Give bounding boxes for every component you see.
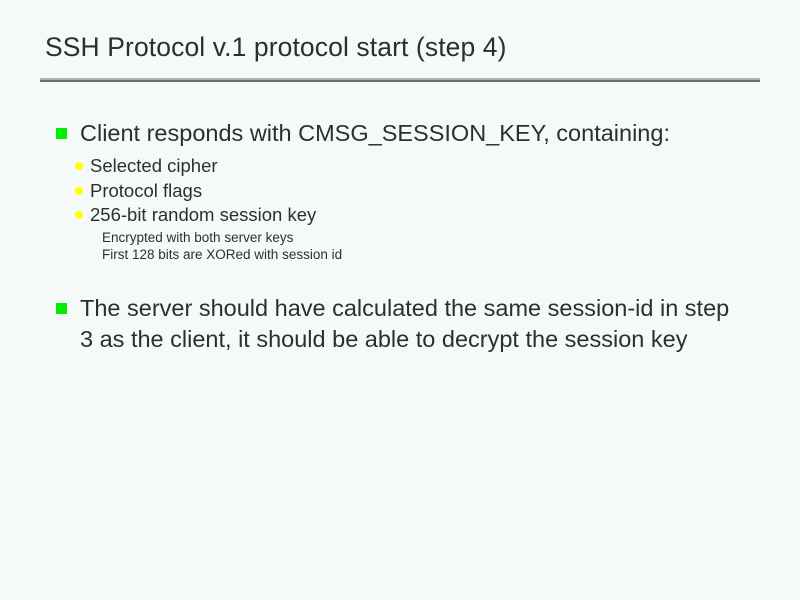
- bullet-level1-label: Client responds with CMSG_SESSION_KEY, c…: [80, 118, 740, 149]
- bullet-level2-label: Protocol flags: [90, 179, 800, 204]
- bullet-level3-item: First 128 bits are XORed with session id: [0, 246, 800, 263]
- title-divider-shadow: [40, 80, 760, 82]
- bullet-level2-item: 256-bit random session key: [0, 203, 800, 228]
- bullet-level2-item: Protocol flags: [0, 179, 800, 204]
- square-bullet-icon: [56, 128, 67, 139]
- bullet-level2-label: Selected cipher: [90, 154, 800, 179]
- bullet-level1-item: Client responds with CMSG_SESSION_KEY, c…: [0, 118, 800, 149]
- bullet-level2-label: 256-bit random session key: [90, 203, 800, 228]
- bullet-level2-group: Selected cipher Protocol flags 256-bit r…: [0, 154, 800, 263]
- disc-bullet-icon: [75, 211, 83, 219]
- bullet-level2-item: Selected cipher: [0, 154, 800, 179]
- bullet-level3-label: First 128 bits are XORed with session id: [102, 246, 800, 263]
- disc-bullet-icon: [75, 162, 83, 170]
- slide-title-block: SSH Protocol v.1 protocol start (step 4): [0, 30, 800, 64]
- content-spacer: [0, 263, 800, 293]
- bullet-level1-label: The server should have calculated the sa…: [80, 293, 740, 355]
- square-bullet-icon: [56, 303, 67, 314]
- bullet-level3-label: Encrypted with both server keys: [102, 229, 800, 246]
- slide-body: Client responds with CMSG_SESSION_KEY, c…: [0, 118, 800, 355]
- title-divider: [40, 78, 760, 82]
- bullet-level3-group: Encrypted with both server keys First 12…: [0, 229, 800, 263]
- page-title: SSH Protocol v.1 protocol start (step 4): [0, 30, 800, 64]
- slide-canvas: SSH Protocol v.1 protocol start (step 4)…: [0, 0, 800, 600]
- disc-bullet-icon: [75, 187, 83, 195]
- bullet-level3-item: Encrypted with both server keys: [0, 229, 800, 246]
- bullet-level1-item: The server should have calculated the sa…: [0, 293, 800, 355]
